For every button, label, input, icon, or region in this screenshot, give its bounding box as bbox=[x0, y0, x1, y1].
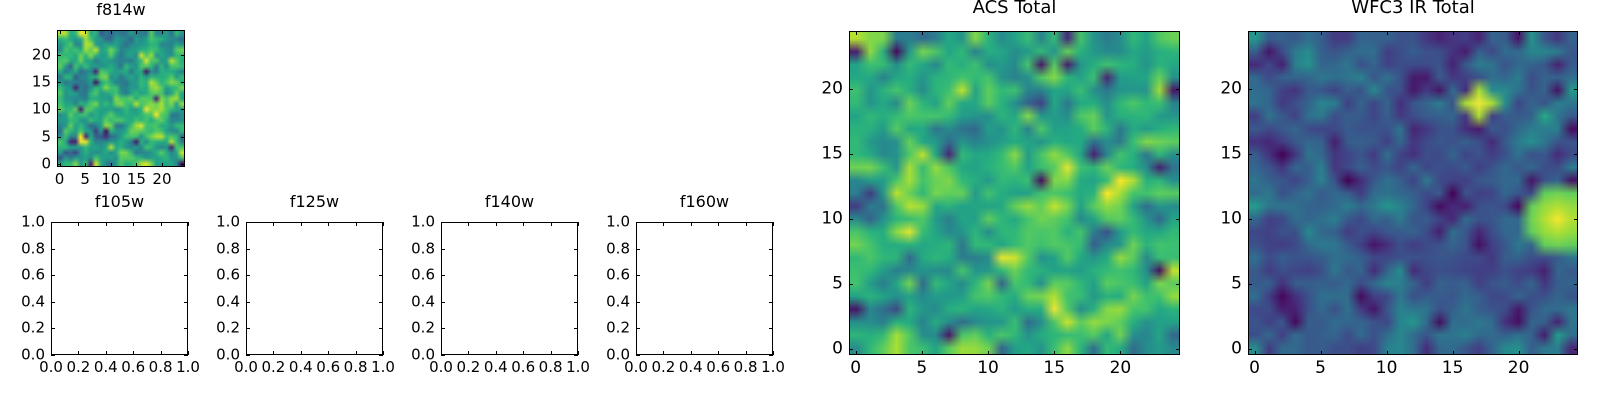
wfc3-ir-total-panel-xtick-top bbox=[1519, 31, 1520, 35]
f814w-panel-ytick-right bbox=[181, 55, 185, 56]
f140w-panel-xtick bbox=[496, 351, 497, 355]
f814w-panel-ytick-right bbox=[181, 82, 185, 83]
f814w-panel-image bbox=[58, 31, 184, 166]
f814w-panel-ytick bbox=[57, 82, 61, 83]
f160w-panel-xticklabel: 1.0 bbox=[761, 360, 785, 375]
wfc3-ir-total-panel-title: WFC3 IR Total bbox=[1248, 0, 1578, 17]
f125w-panel-ytick bbox=[246, 302, 250, 303]
f125w-panel-title: f125w bbox=[246, 194, 383, 210]
f814w-panel-title: f814w bbox=[57, 2, 185, 18]
f814w-panel-ytick bbox=[57, 137, 61, 138]
f814w-panel-ytick-right bbox=[181, 164, 185, 165]
acs-total-panel-xticklabel: 20 bbox=[1110, 360, 1132, 377]
f814w-panel-xticklabel: 5 bbox=[80, 172, 90, 187]
wfc3-ir-total-panel-xticklabel: 5 bbox=[1315, 360, 1326, 377]
f125w-panel-yticklabel: 0.8 bbox=[154, 241, 240, 256]
f160w-panel-ytick bbox=[636, 328, 640, 329]
f814w-panel-ytick-right bbox=[181, 109, 185, 110]
f140w-panel-yticklabel: 0.8 bbox=[349, 241, 435, 256]
wfc3-ir-total-panel-yticklabel: 10 bbox=[1156, 210, 1242, 227]
f140w-panel-xtick-top bbox=[523, 222, 524, 226]
f160w-panel-xticklabel: 0.6 bbox=[706, 360, 730, 375]
acs-total-panel-ytick bbox=[849, 284, 853, 285]
f125w-panel-ytick bbox=[246, 222, 250, 223]
acs-total-panel-xtick-top bbox=[1054, 31, 1055, 35]
f814w-panel-xtick bbox=[162, 163, 163, 167]
acs-total-panel-yticklabel: 10 bbox=[757, 210, 843, 227]
f814w-panel-yticklabel: 10 bbox=[0, 102, 51, 117]
f140w-panel-ytick bbox=[441, 222, 445, 223]
wfc3-ir-total-panel-xtick bbox=[1387, 351, 1388, 355]
f814w-panel-xtick-top bbox=[162, 30, 163, 34]
f814w-panel bbox=[57, 30, 185, 167]
acs-total-panel-ytick bbox=[849, 219, 853, 220]
acs-total-panel-xtick bbox=[856, 351, 857, 355]
f814w-panel-ytick bbox=[57, 164, 61, 165]
wfc3-ir-total-panel-image bbox=[1249, 32, 1577, 354]
wfc3-ir-total-panel-ytick bbox=[1248, 154, 1252, 155]
f105w-panel-ytick bbox=[51, 249, 55, 250]
f140w-panel-yticklabel: 0.2 bbox=[349, 321, 435, 336]
f814w-panel-xtick bbox=[111, 163, 112, 167]
f140w-panel-title: f140w bbox=[441, 194, 578, 210]
f140w-panel-yticklabel: 1.0 bbox=[349, 215, 435, 230]
acs-total-panel-title: ACS Total bbox=[849, 0, 1180, 17]
f125w-panel-ytick bbox=[246, 355, 250, 356]
f140w-panel-xticklabel: 0.4 bbox=[484, 360, 508, 375]
f160w-panel-xticklabel: 0.4 bbox=[679, 360, 703, 375]
f125w-panel-xtick-top bbox=[273, 222, 274, 226]
f105w-panel-xtick bbox=[106, 351, 107, 355]
f160w-panel-ytick bbox=[636, 302, 640, 303]
f814w-panel-yticklabel: 0 bbox=[0, 157, 51, 172]
acs-total-panel-xtick-top bbox=[922, 31, 923, 35]
f125w-panel-xtick-top bbox=[328, 222, 329, 226]
f140w-panel-xtick bbox=[523, 351, 524, 355]
f160w-panel-xticklabel: 0.2 bbox=[651, 360, 675, 375]
wfc3-ir-total-panel-ytick bbox=[1248, 284, 1252, 285]
f160w-panel-xtick bbox=[691, 351, 692, 355]
f814w-panel-xtick bbox=[85, 163, 86, 167]
f125w-panel-xtick bbox=[273, 351, 274, 355]
f160w-panel-xtick-top bbox=[746, 222, 747, 226]
f814w-panel-xtick-top bbox=[85, 30, 86, 34]
f105w-panel-ytick bbox=[51, 302, 55, 303]
f125w-panel-yticklabel: 0.0 bbox=[154, 348, 240, 363]
f160w-panel-yticklabel: 0.8 bbox=[544, 241, 630, 256]
f105w-panel-yticklabel: 0.2 bbox=[0, 321, 45, 336]
f105w-panel-xtick-top bbox=[106, 222, 107, 226]
f125w-panel-ytick bbox=[246, 328, 250, 329]
acs-total-panel-xtick bbox=[1054, 351, 1055, 355]
f125w-panel-xtick bbox=[301, 351, 302, 355]
matplotlib-figure: f814w0510152005101520f105w0.00.20.40.60.… bbox=[0, 0, 1600, 400]
f160w-panel-title: f160w bbox=[636, 194, 773, 210]
acs-total-panel-xticklabel: 15 bbox=[1043, 360, 1065, 377]
wfc3-ir-total-panel-xtick bbox=[1321, 351, 1322, 355]
wfc3-ir-total-panel-xtick-top bbox=[1453, 31, 1454, 35]
wfc3-ir-total-panel-xticklabel: 0 bbox=[1249, 360, 1260, 377]
acs-total-panel-yticklabel: 15 bbox=[757, 146, 843, 163]
wfc3-ir-total-panel-ytick bbox=[1248, 89, 1252, 90]
acs-total-panel-xticklabel: 5 bbox=[916, 360, 927, 377]
f105w-panel-yticklabel: 0.6 bbox=[0, 268, 45, 283]
f105w-panel-xtick bbox=[133, 351, 134, 355]
f160w-panel-xticklabel: 0.8 bbox=[734, 360, 758, 375]
f160w-panel-xtick-top bbox=[691, 222, 692, 226]
f125w-panel-yticklabel: 0.6 bbox=[154, 268, 240, 283]
acs-total-panel-xticklabel: 0 bbox=[850, 360, 861, 377]
acs-total-panel-yticklabel: 5 bbox=[757, 275, 843, 292]
f105w-panel-ytick bbox=[51, 275, 55, 276]
f105w-panel-xticklabel: 0.2 bbox=[66, 360, 90, 375]
f105w-panel-xtick-top bbox=[78, 222, 79, 226]
f160w-panel bbox=[636, 222, 773, 355]
acs-total-panel-xticklabel: 10 bbox=[977, 360, 999, 377]
wfc3-ir-total-panel-yticklabel: 0 bbox=[1156, 340, 1242, 357]
wfc3-ir-total-panel-yticklabel: 5 bbox=[1156, 275, 1242, 292]
f105w-panel-yticklabel: 0.8 bbox=[0, 241, 45, 256]
f814w-panel-xtick-top bbox=[60, 30, 61, 34]
wfc3-ir-total-panel-xticklabel: 15 bbox=[1442, 360, 1464, 377]
f125w-panel-ytick bbox=[246, 249, 250, 250]
f125w-panel-xticklabel: 0.6 bbox=[316, 360, 340, 375]
f814w-panel-yticklabel: 5 bbox=[0, 129, 51, 144]
f160w-panel-yticklabel: 1.0 bbox=[544, 215, 630, 230]
wfc3-ir-total-panel-ytick bbox=[1248, 349, 1252, 350]
wfc3-ir-total-panel-ytick-right bbox=[1574, 219, 1578, 220]
f160w-panel-ytick bbox=[636, 355, 640, 356]
wfc3-ir-total-panel-xticklabel: 20 bbox=[1508, 360, 1530, 377]
f160w-panel-ytick-right bbox=[769, 302, 773, 303]
wfc3-ir-total-panel-xtick-top bbox=[1255, 31, 1256, 35]
f160w-panel-yticklabel: 0.6 bbox=[544, 268, 630, 283]
wfc3-ir-total-panel-ytick-right bbox=[1574, 349, 1578, 350]
f105w-panel-yticklabel: 0.0 bbox=[0, 348, 45, 363]
f105w-panel-ytick bbox=[51, 222, 55, 223]
f814w-panel-yticklabel: 20 bbox=[0, 47, 51, 62]
acs-total-panel bbox=[849, 31, 1180, 355]
acs-total-panel-yticklabel: 0 bbox=[757, 340, 843, 357]
wfc3-ir-total-panel-xtick-top bbox=[1387, 31, 1388, 35]
f140w-panel-ytick bbox=[441, 249, 445, 250]
f140w-panel-ytick bbox=[441, 355, 445, 356]
f160w-panel-yticklabel: 0.0 bbox=[544, 348, 630, 363]
f814w-panel-xtick-top bbox=[136, 30, 137, 34]
f814w-panel-yticklabel: 15 bbox=[0, 75, 51, 90]
f160w-panel-xtick bbox=[663, 351, 664, 355]
f125w-panel-xticklabel: 0.2 bbox=[261, 360, 285, 375]
f814w-panel-ytick bbox=[57, 109, 61, 110]
wfc3-ir-total-panel-xtick bbox=[1453, 351, 1454, 355]
f105w-panel-xtick bbox=[78, 351, 79, 355]
wfc3-ir-total-panel-ytick bbox=[1248, 219, 1252, 220]
f105w-panel-yticklabel: 0.4 bbox=[0, 294, 45, 309]
f814w-panel-xticklabel: 15 bbox=[127, 172, 146, 187]
f814w-panel-xtick-top bbox=[111, 30, 112, 34]
f105w-panel-xticklabel: 0.6 bbox=[121, 360, 145, 375]
wfc3-ir-total-panel-yticklabel: 15 bbox=[1156, 146, 1242, 163]
wfc3-ir-total-panel-xticklabel: 10 bbox=[1376, 360, 1398, 377]
wfc3-ir-total-panel-yticklabel: 20 bbox=[1156, 81, 1242, 98]
wfc3-ir-total-panel bbox=[1248, 31, 1578, 355]
f160w-panel-ytick bbox=[636, 275, 640, 276]
acs-total-panel-ytick bbox=[849, 89, 853, 90]
f125w-panel-xtick-top bbox=[301, 222, 302, 226]
f160w-panel-ytick bbox=[636, 249, 640, 250]
wfc3-ir-total-panel-xtick-top bbox=[1321, 31, 1322, 35]
f160w-panel-yticklabel: 0.2 bbox=[544, 321, 630, 336]
wfc3-ir-total-panel-xtick bbox=[1255, 351, 1256, 355]
f140w-panel-xticklabel: 0.6 bbox=[511, 360, 535, 375]
acs-total-panel-ytick bbox=[849, 154, 853, 155]
f140w-panel-ytick bbox=[441, 275, 445, 276]
f140w-panel-ytick bbox=[441, 302, 445, 303]
wfc3-ir-total-panel-ytick-right bbox=[1574, 154, 1578, 155]
f125w-panel-ytick bbox=[246, 275, 250, 276]
f125w-panel-yticklabel: 1.0 bbox=[154, 215, 240, 230]
f105w-panel-xtick-top bbox=[133, 222, 134, 226]
f105w-panel-yticklabel: 1.0 bbox=[0, 215, 45, 230]
f814w-panel-xticklabel: 0 bbox=[55, 172, 65, 187]
f160w-panel-ytick-right bbox=[769, 249, 773, 250]
f160w-panel-yticklabel: 0.4 bbox=[544, 294, 630, 309]
wfc3-ir-total-panel-ytick-right bbox=[1574, 89, 1578, 90]
f140w-panel-ytick bbox=[441, 328, 445, 329]
f105w-panel-ytick bbox=[51, 355, 55, 356]
acs-total-panel-image bbox=[850, 32, 1179, 354]
f814w-panel-xticklabel: 20 bbox=[152, 172, 171, 187]
acs-total-panel-yticklabel: 20 bbox=[757, 81, 843, 98]
f105w-panel-ytick bbox=[51, 328, 55, 329]
acs-total-panel-xtick-top bbox=[1120, 31, 1121, 35]
f160w-panel-xtick bbox=[746, 351, 747, 355]
f814w-panel-xticklabel: 10 bbox=[101, 172, 120, 187]
f140w-panel-xtick bbox=[468, 351, 469, 355]
f140w-panel-xtick-top bbox=[468, 222, 469, 226]
f140w-panel-xtick-top bbox=[496, 222, 497, 226]
f140w-panel-yticklabel: 0.0 bbox=[349, 348, 435, 363]
acs-total-panel-xtick bbox=[988, 351, 989, 355]
f160w-panel-xtick-top bbox=[663, 222, 664, 226]
f814w-panel-xtick bbox=[136, 163, 137, 167]
f140w-panel-yticklabel: 0.4 bbox=[349, 294, 435, 309]
f125w-panel-xticklabel: 0.4 bbox=[289, 360, 313, 375]
f160w-panel-ytick bbox=[636, 222, 640, 223]
acs-total-panel-xtick-top bbox=[856, 31, 857, 35]
f125w-panel-yticklabel: 0.2 bbox=[154, 321, 240, 336]
f125w-panel-xtick bbox=[328, 351, 329, 355]
wfc3-ir-total-panel-ytick-right bbox=[1574, 284, 1578, 285]
wfc3-ir-total-panel-xtick bbox=[1519, 351, 1520, 355]
f105w-panel-title: f105w bbox=[51, 194, 188, 210]
acs-total-panel-xtick bbox=[1120, 351, 1121, 355]
f105w-panel-xticklabel: 0.4 bbox=[94, 360, 118, 375]
f814w-panel-ytick bbox=[57, 55, 61, 56]
f140w-panel-xticklabel: 0.2 bbox=[456, 360, 480, 375]
acs-total-panel-ytick bbox=[849, 349, 853, 350]
f140w-panel-yticklabel: 0.6 bbox=[349, 268, 435, 283]
f814w-panel-ytick-right bbox=[181, 137, 185, 138]
f160w-panel-xtick bbox=[718, 351, 719, 355]
acs-total-panel-xtick bbox=[922, 351, 923, 355]
f160w-panel-xtick-top bbox=[718, 222, 719, 226]
f160w-panel-ytick-right bbox=[769, 328, 773, 329]
acs-total-panel-xtick-top bbox=[988, 31, 989, 35]
f125w-panel-yticklabel: 0.4 bbox=[154, 294, 240, 309]
